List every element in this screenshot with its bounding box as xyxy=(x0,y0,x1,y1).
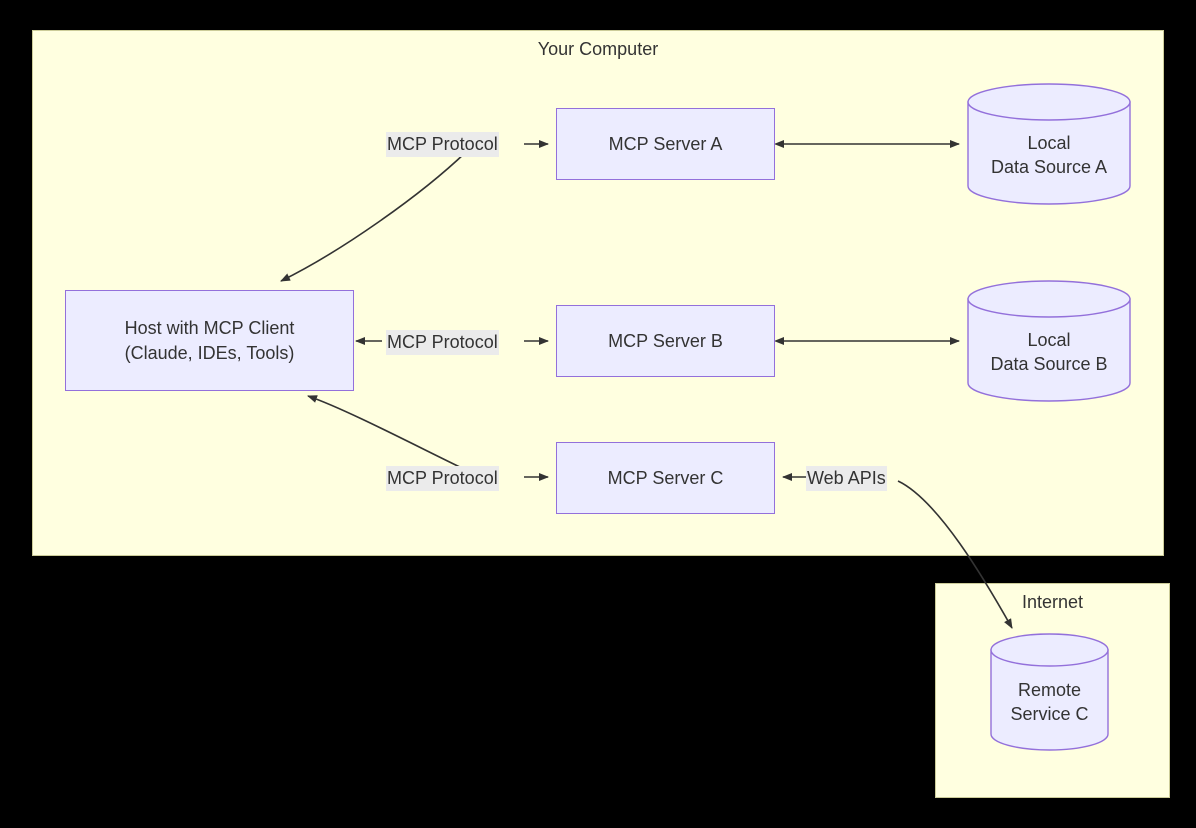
node-mcp-server-c-label: MCP Server C xyxy=(608,466,724,490)
node-mcp-server-a-label: MCP Server A xyxy=(609,132,723,156)
panel-your-computer-title: Your Computer xyxy=(33,39,1163,60)
cylinder-shape-b xyxy=(967,280,1131,402)
panel-internet-title: Internet xyxy=(936,592,1169,613)
diagram-canvas: Your Computer Internet xyxy=(0,0,1196,828)
edge-label-mcp-protocol-c: MCP Protocol xyxy=(386,466,499,491)
node-host-with-mcp-client[interactable]: Host with MCP Client (Claude, IDEs, Tool… xyxy=(65,290,354,391)
edge-label-mcp-protocol-b: MCP Protocol xyxy=(386,330,499,355)
edge-label-mcp-protocol-a: MCP Protocol xyxy=(386,132,499,157)
cylinder-shape-remote-c xyxy=(990,633,1109,751)
edge-label-web-apis: Web APIs xyxy=(806,466,887,491)
cylinder-shape-a xyxy=(967,83,1131,205)
node-local-data-source-b[interactable]: Local Data Source B xyxy=(967,280,1131,402)
node-host-label-line2: (Claude, IDEs, Tools) xyxy=(125,341,295,365)
node-mcp-server-a[interactable]: MCP Server A xyxy=(556,108,775,180)
node-mcp-server-b-label: MCP Server B xyxy=(608,329,723,353)
node-mcp-server-c[interactable]: MCP Server C xyxy=(556,442,775,514)
node-host-label-line1: Host with MCP Client xyxy=(125,316,295,340)
node-mcp-server-b[interactable]: MCP Server B xyxy=(556,305,775,377)
node-remote-service-c[interactable]: Remote Service C xyxy=(990,633,1109,751)
node-local-data-source-a[interactable]: Local Data Source A xyxy=(967,83,1131,205)
